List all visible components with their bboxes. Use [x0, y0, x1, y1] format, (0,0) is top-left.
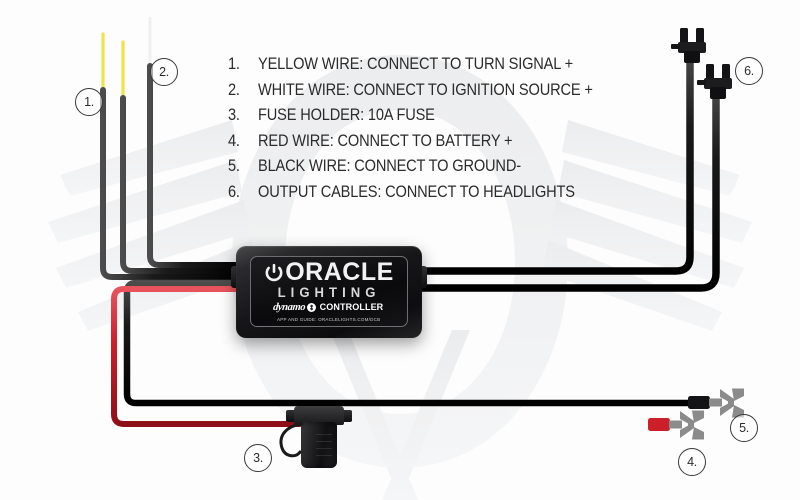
module-product-suffix: CONTROLLER: [320, 303, 384, 313]
legend-label: BLACK WIRE: CONNECT TO GROUND-: [258, 156, 521, 176]
callout-marker-3: 3.: [244, 444, 272, 472]
bluetooth-icon: [307, 303, 316, 312]
legend-label: RED WIRE: CONNECT TO BATTERY +: [258, 131, 512, 151]
legend-item-3: 3. FUSE HOLDER: 10A FUSE: [228, 105, 648, 131]
legend-number: 5.: [228, 156, 254, 176]
callout-marker-4: 4.: [678, 448, 706, 476]
legend-item-4: 4. RED WIRE: CONNECT TO BATTERY +: [228, 131, 648, 157]
legend-label: YELLOW WIRE: CONNECT TO TURN SIGNAL +: [258, 54, 573, 74]
legend-label: OUTPUT CABLES: CONNECT TO HEADLIGHTS: [258, 182, 575, 202]
module-product-name: dynamo: [272, 303, 305, 314]
legend-label: WHITE WIRE: CONNECT TO IGNITION SOURCE +: [258, 80, 593, 100]
legend-list: 1. YELLOW WIRE: CONNECT TO TURN SIGNAL +…: [228, 54, 648, 207]
legend-number: 3.: [228, 105, 254, 125]
module-brand-row: ORACLE: [264, 260, 394, 285]
bluetooth-glyph: [308, 304, 315, 311]
terminal-red-battery: [648, 408, 710, 442]
legend-item-2: 2. WHITE WIRE: CONNECT TO IGNITION SOURC…: [228, 80, 648, 106]
legend-number: 4.: [228, 131, 254, 151]
callout-marker-5: 5.: [730, 414, 758, 442]
legend-item-5: 5. BLACK WIRE: CONNECT TO GROUND-: [228, 156, 648, 182]
callout-marker-6: 6.: [735, 57, 763, 85]
fuse-retainer-loop: [276, 420, 308, 462]
oracle-dynamo-controller-module: ORACLE LIGHTING dynamo CONTROLLER APP AN…: [236, 246, 422, 338]
power-icon: [264, 263, 284, 283]
callout-marker-1: 1.: [75, 88, 103, 116]
module-brand-text: ORACLE: [285, 260, 394, 285]
legend-number: 6.: [228, 182, 254, 202]
module-brand-subtext: LIGHTING: [278, 286, 381, 300]
module-label-plate: ORACLE LIGHTING dynamo CONTROLLER APP AN…: [250, 256, 408, 327]
wiring-diagram-canvas: ORACLE LIGHTING dynamo CONTROLLER APP AN…: [0, 0, 800, 500]
output-connector-2: [694, 60, 740, 106]
legend-item-1: 1. YELLOW WIRE: CONNECT TO TURN SIGNAL +: [228, 54, 648, 80]
callout-marker-2: 2.: [150, 58, 178, 86]
legend-number: 1.: [228, 54, 254, 74]
legend-number: 2.: [228, 80, 254, 100]
fuse-holder: [288, 406, 350, 468]
module-product-row: dynamo CONTROLLER: [273, 303, 385, 314]
legend-label: FUSE HOLDER: 10A FUSE: [258, 105, 435, 125]
legend-item-6: 6. OUTPUT CABLES: CONNECT TO HEADLIGHTS: [228, 182, 648, 208]
module-fineprint: APP AND GUIDE: ORACLELIGHTS.COM/DCB: [277, 317, 380, 322]
